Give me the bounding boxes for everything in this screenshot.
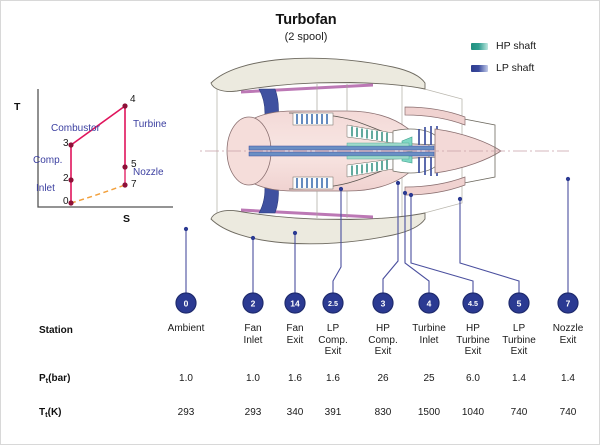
page-title: Turbofan — [201, 13, 411, 29]
temperature-value-0: 293 — [178, 407, 195, 419]
pressure-value-3: 26 — [377, 373, 388, 385]
station-marker-label-2-5: 2.5 — [328, 299, 338, 308]
ts-axes — [38, 89, 173, 207]
pressure-value-0: 1.0 — [179, 373, 193, 385]
station-marker-label-14: 14 — [290, 299, 300, 309]
nozzle-fairing-top — [405, 107, 465, 125]
ts-point-3 — [68, 142, 73, 147]
hp-shaft-top — [347, 143, 409, 146]
nozzle-fairing-bottom — [405, 177, 465, 195]
temperature-entropy-diagram: T S Combustor Turbine Comp. Nozzle Inlet… — [13, 79, 193, 229]
engine-svg — [197, 53, 569, 249]
station-name-4: Turbine Inlet — [412, 323, 446, 346]
title-block: Turbofan (2 spool) — [201, 13, 411, 43]
temperature-value-7: 740 — [560, 407, 577, 419]
hp-shaft-bottom — [347, 156, 409, 159]
station-marker-label-4-5: 4.5 — [468, 299, 478, 308]
pressure-value-2-5: 1.6 — [326, 373, 340, 385]
station-marker-label-4: 4 — [427, 299, 432, 309]
ts-diagram-svg — [13, 79, 193, 229]
ts-point-label-4: 4 — [130, 94, 136, 105]
ts-point-0 — [68, 200, 73, 205]
ts-label-nozzle: Nozzle — [133, 167, 164, 178]
station-name-3: HP Comp. Exit — [368, 323, 397, 358]
pressure-value-2: 1.0 — [246, 373, 260, 385]
ts-point-label-5: 5 — [131, 159, 137, 170]
station-marker-label-5: 5 — [517, 299, 522, 309]
temperature-value-5: 740 — [511, 407, 528, 419]
station-marker-label-2: 2 — [251, 299, 256, 309]
legend-label-hp-shaft: HP shaft — [496, 40, 536, 52]
lp-shaft-bottom — [249, 152, 434, 156]
ts-label-comp: Comp. — [33, 155, 62, 166]
ts-point-5 — [122, 164, 127, 169]
ts-point-2 — [68, 177, 73, 182]
temperature-value-4-5: 1040 — [462, 407, 484, 419]
pressure-value-7: 1.4 — [561, 373, 575, 385]
ts-label-turbine: Turbine — [133, 119, 167, 130]
station-marker-label-3: 3 — [381, 299, 386, 309]
ts-curve-ambient — [71, 185, 125, 203]
station-name-7: Nozzle Exit — [553, 323, 584, 346]
ts-point-label-3: 3 — [63, 138, 69, 149]
row-label-station: Station — [39, 325, 73, 336]
station-name-5: LP Turbine Exit — [502, 323, 536, 358]
temperature-value-14: 340 — [287, 407, 304, 419]
temperature-value-3: 830 — [375, 407, 392, 419]
station-marker-label-0: 0 — [184, 299, 189, 309]
station-name-14: Fan Exit — [286, 323, 303, 346]
temperature-value-2-5: 391 — [325, 407, 342, 419]
pressure-value-4-5: 6.0 — [466, 373, 480, 385]
row-label-pressure: Pt(bar) — [39, 373, 70, 385]
station-name-4-5: HP Turbine Exit — [456, 323, 490, 358]
ts-point-7 — [122, 182, 127, 187]
station-name-2-5: LP Comp. Exit — [318, 323, 347, 358]
station-marker-label-7: 7 — [566, 299, 571, 309]
pressure-value-4: 25 — [423, 373, 434, 385]
temperature-value-4: 1500 — [418, 407, 440, 419]
pressure-unit: (bar) — [48, 373, 70, 384]
station-name-2: Fan Inlet — [244, 323, 263, 346]
ts-point-4 — [122, 103, 127, 108]
ts-label-combustor: Combustor — [51, 123, 100, 134]
lp-compressor-blades-bottom — [293, 177, 333, 189]
ts-point-label-2: 2 — [63, 173, 69, 184]
pressure-value-14: 1.6 — [288, 373, 302, 385]
diagram-canvas: Turbofan (2 spool) HP shaft LP shaft — [0, 0, 600, 445]
station-marker-row: 0 2 14 2.5 3 4 4.5 5 7 — [1, 287, 600, 319]
ts-axis-label-entropy: S — [123, 213, 130, 225]
row-label-temperature: Tt(K) — [39, 407, 62, 419]
ts-point-label-7: 7 — [131, 179, 137, 190]
ts-point-label-0: 0 — [63, 196, 69, 207]
pressure-value-5: 1.4 — [512, 373, 526, 385]
page-subtitle: (2 spool) — [201, 31, 411, 43]
pressure-symbol: P — [39, 373, 46, 384]
station-name-0: Ambient — [168, 323, 205, 335]
ts-label-inlet: Inlet — [36, 183, 55, 194]
turbofan-cutaway-illustration — [197, 53, 569, 249]
temperature-unit: (K) — [48, 407, 62, 418]
lp-compressor-blades-top — [293, 113, 333, 125]
lp-shaft-top — [249, 146, 434, 150]
hp-shaft-swatch-icon — [471, 43, 488, 50]
ts-axis-label-temperature: T — [14, 101, 20, 113]
temperature-value-2: 293 — [245, 407, 262, 419]
